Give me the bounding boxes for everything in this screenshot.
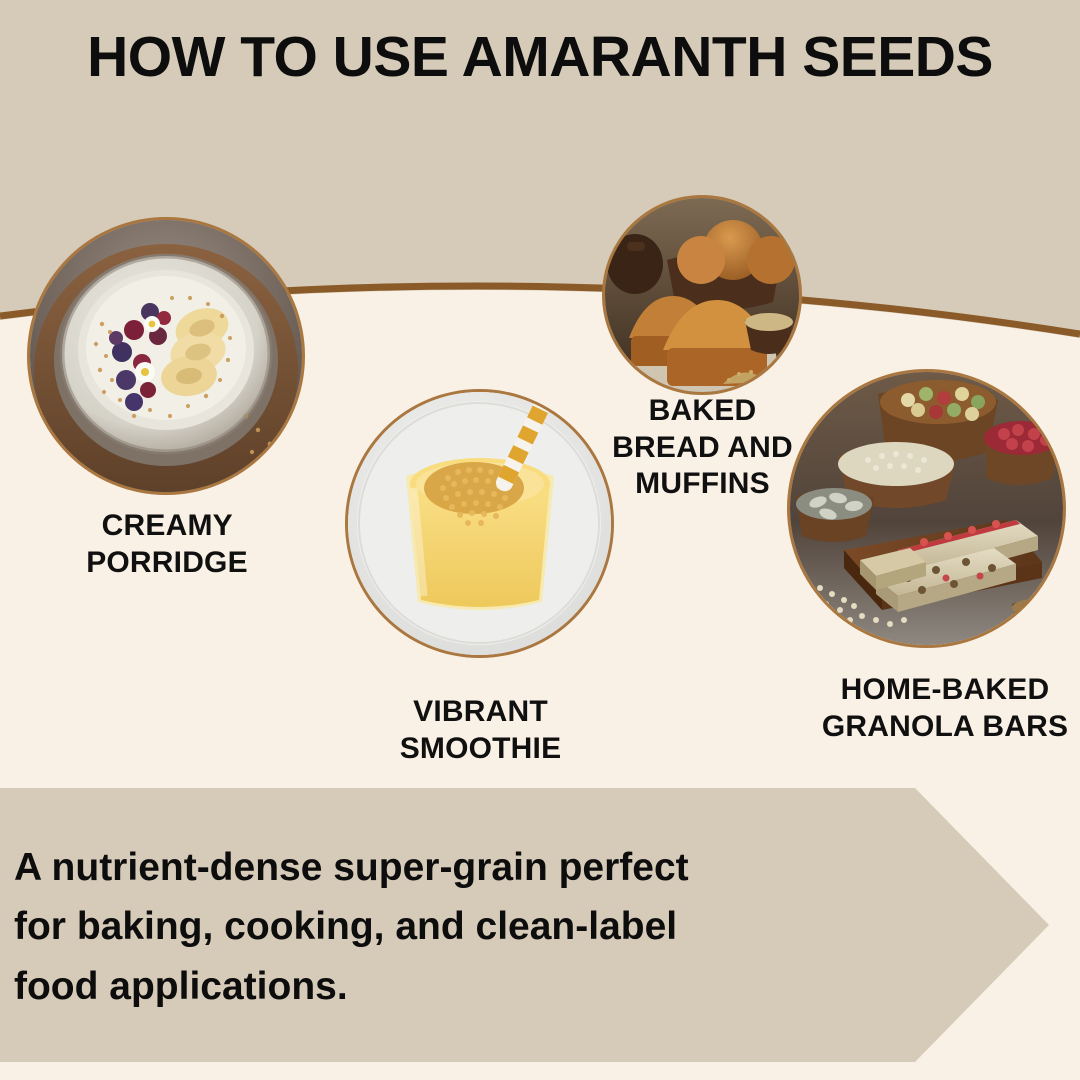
page-title: HOW TO USE AMARANTH SEEDS [0, 28, 1080, 88]
granola-bars-illustration [790, 372, 1063, 645]
label-line: MUFFINS [635, 467, 770, 500]
image-creamy-porridge [30, 220, 302, 492]
smoothie-illustration [348, 392, 611, 655]
label-line: SMOOTHIE [400, 732, 562, 765]
label-line: VIBRANT [413, 695, 548, 728]
label-line: BREAD AND [612, 431, 793, 464]
label-creamy-porridge: CREAMY PORRIDGE [22, 508, 312, 581]
infographic-canvas: HOW TO USE AMARANTH SEEDS [0, 0, 1080, 1080]
image-home-baked-granola-bars [790, 372, 1063, 645]
label-vibrant-smoothie: VIBRANT SMOOTHIE [358, 694, 603, 767]
image-vibrant-smoothie [348, 392, 611, 655]
label-line: PORRIDGE [86, 546, 248, 579]
tagline-line: A nutrient-dense super-grain perfect [14, 838, 844, 897]
porridge-illustration [30, 220, 302, 492]
image-baked-bread-and-muffins [605, 198, 799, 392]
label-line: CREAMY [102, 509, 233, 542]
label-line: HOME-BAKED [841, 673, 1050, 706]
label-home-baked-granola-bars: HOME-BAKED GRANOLA BARS [814, 672, 1076, 745]
tagline-text: A nutrient-dense super-grain perfect for… [14, 838, 844, 1016]
tagline-line: food applications. [14, 957, 844, 1016]
label-line: BAKED [649, 394, 757, 427]
label-baked-bread-and-muffins: BAKED BREAD AND MUFFINS [600, 393, 805, 503]
label-line: BARS [982, 710, 1068, 743]
muffins-illustration [605, 198, 799, 392]
label-line: GRANOLA [822, 710, 974, 743]
tagline-line: for baking, cooking, and clean-label [14, 897, 844, 956]
